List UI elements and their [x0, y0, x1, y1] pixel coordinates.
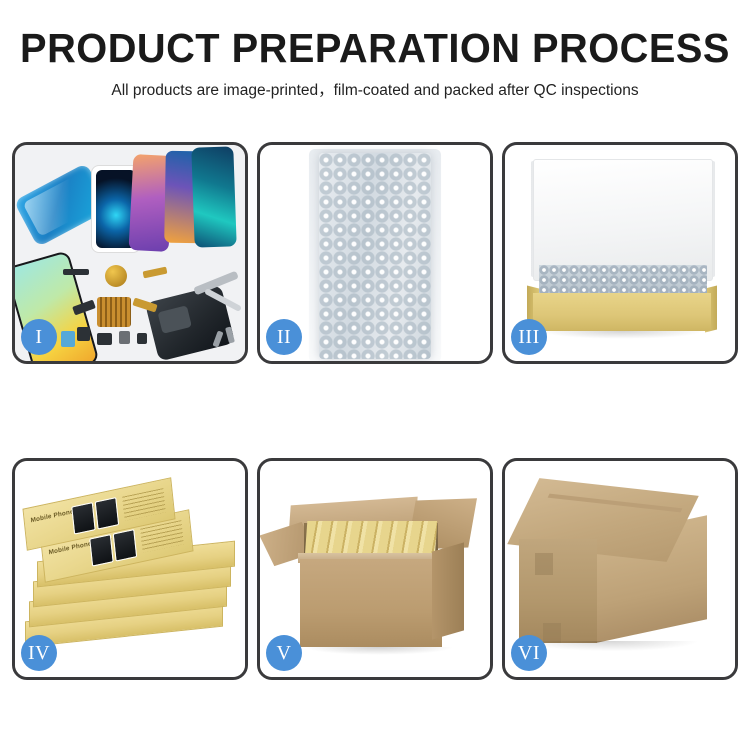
printed-box-stack: Mobile Phone Spare Parts Mobile Phone Sp…: [19, 483, 245, 665]
inner-box-shadow: [539, 331, 705, 339]
sealed-carton-shadow: [525, 641, 697, 651]
sealed-carton-tab-lower: [543, 623, 561, 643]
inner-box-white-lid: [533, 159, 713, 281]
step-badge-2: II: [266, 319, 302, 355]
spare-part-square-2: [97, 333, 112, 345]
spare-part-square-1: [77, 327, 90, 341]
step-badge-1: I: [21, 319, 57, 355]
sealed-carton-tab-upper: [535, 553, 553, 575]
box-art-screen-4: [95, 497, 119, 530]
box-art-screen-2: [113, 529, 137, 562]
phone-teal: [191, 146, 236, 247]
step-panel-6[interactable]: VI: [502, 458, 738, 680]
step-panel-3[interactable]: III: [502, 142, 738, 364]
step-badge-3: III: [511, 319, 547, 355]
process-steps-grid: I II III: [12, 142, 738, 680]
bubble-wrap-sheet: [319, 153, 431, 359]
spare-part-square-4: [137, 333, 147, 344]
step-badge-5: V: [266, 635, 302, 671]
box-art-screen-3: [71, 502, 95, 535]
carton-shadow: [304, 647, 454, 655]
spare-part-bar: [63, 269, 89, 275]
spare-part-square-3: [119, 331, 130, 344]
inner-box-front-panel: [533, 293, 711, 331]
step-panel-1[interactable]: I: [12, 142, 248, 364]
page-title: PRODUCT PREPARATION PROCESS: [11, 28, 739, 69]
step-panel-4[interactable]: Mobile Phone Spare Parts Mobile Phone Sp…: [12, 458, 248, 680]
spare-part-coin: [105, 265, 127, 287]
page-header: PRODUCT PREPARATION PROCESS All products…: [0, 0, 750, 99]
step-badge-4: IV: [21, 635, 57, 671]
spare-part-square-5: [61, 331, 75, 347]
step-panel-2[interactable]: II: [257, 142, 493, 364]
box-art-screen-1: [89, 534, 113, 567]
step-badge-6: VI: [511, 635, 547, 671]
box-spec-lines-upper: [122, 488, 166, 521]
step-panel-5[interactable]: V: [257, 458, 493, 680]
page-subtitle: All products are image-printed，film-coat…: [0, 83, 750, 99]
spare-part-chip: [97, 297, 131, 327]
carton-side-panel: [432, 542, 464, 639]
carton-front-panel: [300, 559, 442, 647]
inner-box-bubble-contents: [539, 265, 707, 295]
